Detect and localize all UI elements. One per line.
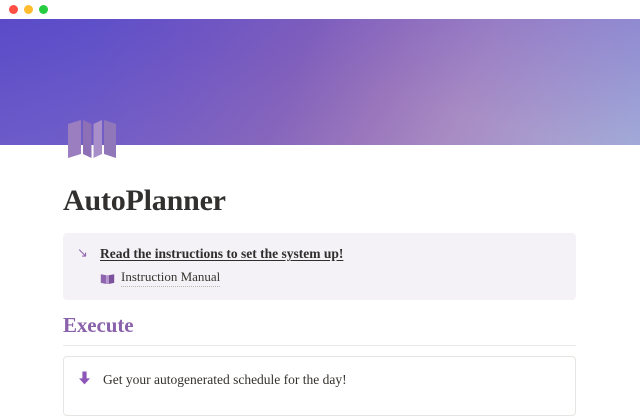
window-close-button[interactable]: [9, 5, 18, 14]
callout-instructions[interactable]: ↘ Read the instructions to set the syste…: [63, 233, 576, 300]
window-maximize-button[interactable]: [39, 5, 48, 14]
section-divider: [63, 345, 576, 346]
instruction-manual-label: Instruction Manual: [121, 269, 220, 287]
callout-heading-text: Read the instructions to set the system …: [100, 245, 343, 262]
page-title[interactable]: AutoPlanner: [63, 186, 640, 216]
execute-callout-text: Get your autogenerated schedule for the …: [103, 371, 347, 388]
map-icon[interactable]: [66, 118, 118, 162]
instruction-manual-link[interactable]: Instruction Manual: [100, 269, 562, 287]
window-minimize-button[interactable]: [24, 5, 33, 14]
open-book-icon: [100, 272, 115, 284]
arrow-down-right-icon: ↘: [77, 245, 93, 262]
callout-heading-row: ↘ Read the instructions to set the syste…: [77, 245, 562, 262]
execute-row: Get your autogenerated schedule for the …: [78, 371, 561, 390]
window-titlebar: [0, 0, 640, 19]
section-heading-execute[interactable]: Execute: [63, 315, 133, 336]
arrow-down-icon: [78, 371, 94, 390]
callout-execute[interactable]: Get your autogenerated schedule for the …: [63, 356, 576, 416]
